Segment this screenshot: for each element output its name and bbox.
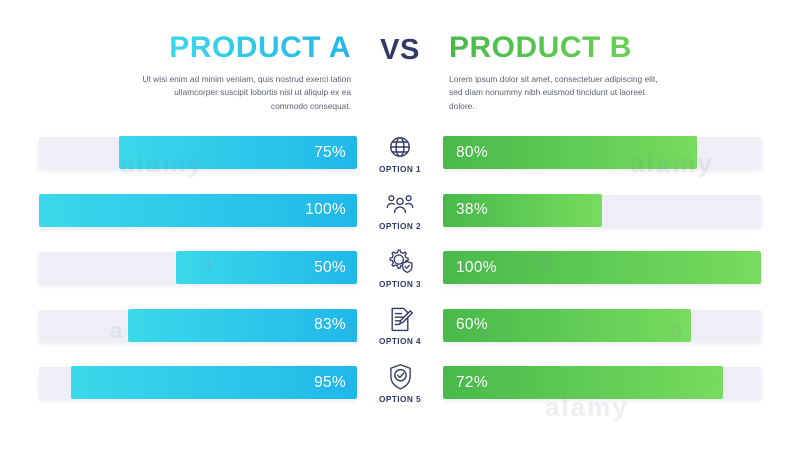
infographic-header: PRODUCT A Ut wisi enim ad minim veniam, … <box>0 0 800 112</box>
option-label: OPTION 4 <box>379 336 421 346</box>
users-group-icon <box>384 189 416 219</box>
product-b-header: PRODUCT B Lorem ipsum dolor sit amet, co… <box>443 32 681 113</box>
product-b-bar-value: 38% <box>456 194 488 227</box>
shield-check-icon <box>384 362 416 392</box>
product-a-bar-track: 95% <box>39 366 357 399</box>
product-b-bar-value: 80% <box>456 136 488 169</box>
product-a-title: PRODUCT A <box>169 32 351 64</box>
product-b-bar-value: 60% <box>456 309 488 342</box>
product-a-bar-track: 100% <box>39 194 357 227</box>
product-a-bar-track: 75% <box>39 136 357 169</box>
product-b-bar-track: 100% <box>443 251 761 284</box>
product-b-bar-value: 72% <box>456 366 488 399</box>
product-b-bar-track: 38% <box>443 194 761 227</box>
product-b-bar-track: 72% <box>443 366 761 399</box>
product-a-description: Ut wisi enim ad minim veniam, quis nostr… <box>136 73 351 114</box>
comparison-row: 95% OPTION 5 72% <box>0 354 800 412</box>
product-a-bar-value: 95% <box>314 366 346 399</box>
option-label: OPTION 2 <box>379 221 421 231</box>
gear-shield-check-icon <box>384 247 416 277</box>
option-cell: OPTION 5 <box>357 362 443 404</box>
comparison-row: 100% OPTION 2 38% <box>0 182 800 240</box>
product-b-bar-value: 100% <box>456 251 497 284</box>
comparison-row: 83% OPTION 4 60% <box>0 297 800 355</box>
product-a-bar-value: 50% <box>314 251 346 284</box>
option-cell: OPTION 4 <box>357 304 443 346</box>
option-label: OPTION 5 <box>379 394 421 404</box>
vs-label: VS <box>380 34 420 67</box>
product-a-header: PRODUCT A Ut wisi enim ad minim veniam, … <box>119 32 357 113</box>
product-a-bar-track: 83% <box>39 309 357 342</box>
product-a-bar-value: 83% <box>314 309 346 342</box>
comparison-infographic: PRODUCT A Ut wisi enim ad minim veniam, … <box>0 0 800 450</box>
globe-icon <box>384 132 416 162</box>
option-cell: OPTION 3 <box>357 247 443 289</box>
product-a-bar-value: 100% <box>305 194 346 227</box>
option-label: OPTION 3 <box>379 279 421 289</box>
product-b-bar-track: 80% <box>443 136 761 169</box>
option-cell: OPTION 2 <box>357 189 443 231</box>
product-a-bar-track: 50% <box>39 251 357 284</box>
document-pencil-icon <box>384 304 416 334</box>
comparison-row: 75% OPTION 1 80% <box>0 124 800 182</box>
vs-divider: VS <box>357 32 443 67</box>
product-a-bar-value: 75% <box>314 136 346 169</box>
comparison-rows: 75% OPTION 1 80% <box>0 112 800 412</box>
product-b-bar-track: 60% <box>443 309 761 342</box>
product-b-description: Lorem ipsum dolor sit amet, consectetuer… <box>449 73 664 114</box>
option-cell: OPTION 1 <box>357 132 443 174</box>
product-b-title: PRODUCT B <box>449 32 632 64</box>
comparison-row: 50% OPTION 3 100% <box>0 239 800 297</box>
option-label: OPTION 1 <box>379 164 421 174</box>
